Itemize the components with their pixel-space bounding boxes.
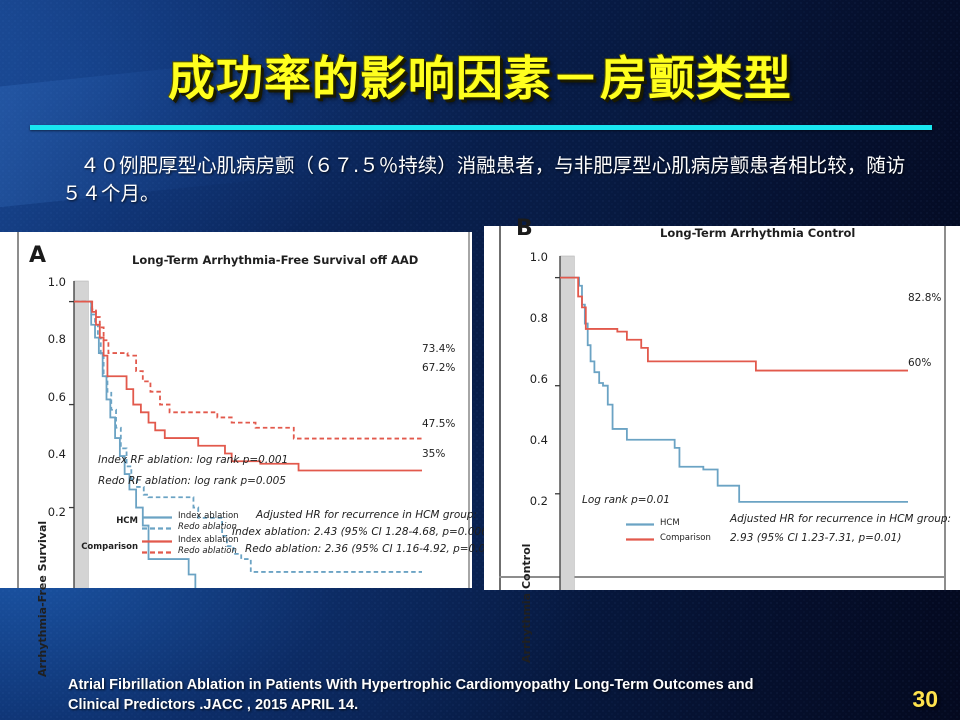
panel-a-legend-swatch-2 <box>142 540 172 543</box>
panel-a-legend-label-1: Redo ablation <box>178 522 237 532</box>
panel-a-legend-label-3: Redo ablation <box>178 546 237 556</box>
panel-a-note-1: Redo RF ablation: log rank p=0.005 <box>98 475 286 487</box>
chart-panel-a: A Long-Term Arrhythmia-Free Survival off… <box>0 232 472 588</box>
panel-b-legend-label-0: HCM <box>660 518 680 528</box>
footer-line-2: Clinical Predictors .JACC , 2015 APRIL 1… <box>68 696 878 716</box>
panel-b-note-2: 2.93 (95% CI 1.23-7.31, p=0.01) <box>730 532 901 544</box>
panel-b-endlabel-0: 82.8% <box>908 292 941 304</box>
panel-a-legend-swatch-3 <box>142 551 172 554</box>
panel-a-note-2: Adjusted HR for recurrence in HCM group: <box>256 509 477 521</box>
panel-a-note-0: Index RF ablation: log rank p=0.001 <box>98 454 288 466</box>
panel-a-note-4: Redo ablation: 2.36 (95% CI 1.16-4.92, p… <box>245 543 496 555</box>
slide-canvas: 成功率的影响因素－房颤类型 ４０例肥厚型心肌病房颤（６７.５％持续）消融患者，与… <box>0 0 960 720</box>
footer-citation: Atrial Fibrillation Ablation in Patients… <box>68 676 878 715</box>
panel-b-legend-label-1: Comparison <box>660 533 711 543</box>
panel-a-legend-group-hcm: HCM <box>96 516 138 526</box>
panel-a-legend-swatch-0 <box>142 516 172 519</box>
body-paragraph: ４０例肥厚型心肌病房颤（６７.５％持续）消融患者，与非肥厚型心肌病房颤患者相比较… <box>62 152 912 209</box>
panel-a-legend-swatch-1 <box>142 527 172 530</box>
title-divider <box>30 125 932 130</box>
panel-b-legend-swatch-0 <box>626 523 654 526</box>
panel-b-endlabel-1: 60% <box>908 357 931 369</box>
panel-a-endlabel-0: 73.4% <box>422 343 455 355</box>
panel-b-note-0: Log rank p=0.01 <box>582 494 670 506</box>
page-number: 30 <box>912 686 938 713</box>
panel-a-legend-label-0: Index ablation <box>178 511 239 521</box>
page-title: 成功率的影响因素－房颤类型 <box>0 40 960 109</box>
panel-a-note-3: Index ablation: 2.43 (95% CI 1.28-4.68, … <box>232 526 492 538</box>
footer-line-1: Atrial Fibrillation Ablation in Patients… <box>68 676 878 696</box>
chart-panel-b: B Long-Term Arrhythmia Control Arrhythmi… <box>484 226 960 590</box>
panel-a-endlabel-2: 47.5% <box>422 418 455 430</box>
panel-b-legend-swatch-1 <box>626 538 654 541</box>
panel-a-endlabel-1: 67.2% <box>422 362 455 374</box>
panel-a-legend-label-2: Index ablation <box>178 535 239 545</box>
panel-a-legend-group-comparison: Comparison <box>78 542 138 552</box>
panel-a-endlabel-3: 35% <box>422 448 445 460</box>
panel-b-note-1: Adjusted HR for recurrence in HCM group: <box>730 513 951 525</box>
